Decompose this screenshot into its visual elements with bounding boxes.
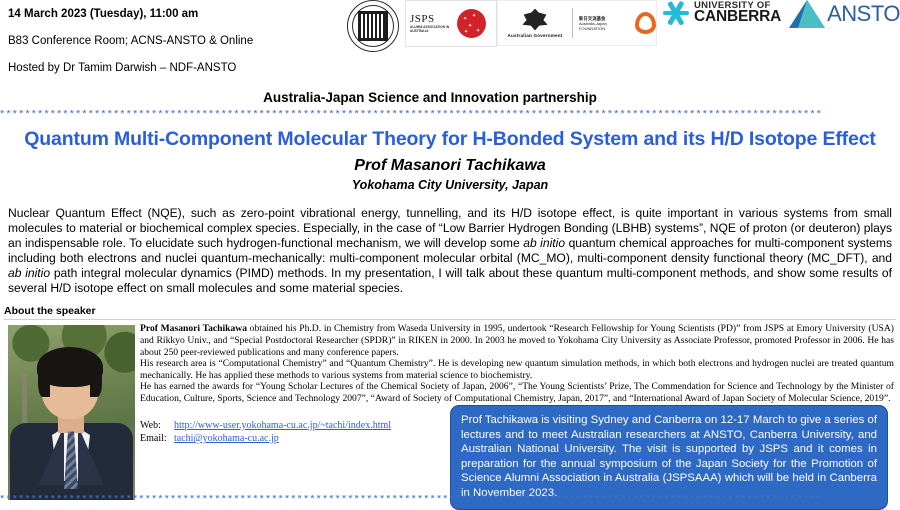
seminar-poster: 14 March 2023 (Tuesday), 11:00 am B83 Co… (0, 0, 900, 507)
speaker-bio-text: Prof Masanori Tachikawa obtained his Ph.… (140, 323, 894, 404)
logo-strip: JSPS ALUMNI ASSOCIATION IN AUSTRALIA ✦✦ … (347, 0, 900, 52)
ansto-triangle-icon (789, 0, 825, 28)
section-divider (4, 319, 896, 320)
ansto-logo: ANSTO (789, 0, 900, 28)
abstract-em-2: ab initio (8, 266, 50, 280)
bio-paragraph-2: His research area is “Computational Chem… (140, 358, 894, 381)
jsps-logo-title: JSPS (410, 14, 454, 25)
speaker-photo (8, 325, 135, 500)
speaker-affiliation: Yokohama City University, Japan (0, 178, 900, 192)
visit-callout-box: Prof Tachikawa is visiting Sydney and Ca… (450, 405, 888, 510)
speaker-website-link[interactable]: http://www-user.yokohama-cu.ac.jp/~tachi… (174, 420, 391, 431)
partnership-heading: Australia-Japan Science and Innovation p… (0, 90, 900, 105)
australian-government-logo: Australian Government 新日交流基金 Australia-J… (497, 0, 657, 46)
speaker-email-link[interactable]: tachi@yokohama-cu.ac.jp (174, 433, 279, 444)
canberra-snowflake-icon (663, 0, 689, 26)
speaker-name: Prof Masanori Tachikawa (0, 157, 900, 175)
web-label: Web: (140, 419, 174, 433)
about-the-speaker-label: About the speaker (4, 305, 900, 317)
ansto-wordmark: ANSTO (827, 1, 900, 27)
canberra-line2: CANBERRA (694, 10, 781, 24)
poster-header: 14 March 2023 (Tuesday), 11:00 am B83 Co… (0, 0, 900, 88)
event-host: Hosted by Dr Tamim Darwish – NDF-ANSTO (8, 61, 438, 75)
bio-paragraph-1: obtained his Ph.D. in Chemistry from Was… (140, 323, 894, 357)
page-title: Quantum Multi-Component Molecular Theory… (0, 128, 900, 151)
bio-paragraph-3: He has earned the awards for “Young Scho… (140, 381, 894, 404)
university-of-canberra-logo: UNIVERSITY OF CANBERRA (663, 0, 781, 26)
abstract-part-3: path integral molecular dynamics (PIMD) … (8, 266, 892, 295)
abstract-em-1: ab initio (523, 236, 565, 250)
australian-government-label: Australian Government (498, 33, 572, 38)
ausjapan-foundation-label: FOUNDATION (579, 26, 605, 31)
ausjapan-heart-icon (635, 12, 656, 34)
bio-speaker-name: Prof Masanori Tachikawa (140, 323, 247, 334)
jsps-logo-subtitle: ALUMNI ASSOCIATION IN AUSTRALIA (410, 25, 454, 33)
southern-cross-icon: ✦✦ ✦✦✦ (457, 9, 486, 38)
australian-academy-seal-icon (347, 0, 399, 52)
decorative-dot-row-top: ****************************************… (0, 110, 900, 119)
abstract-text: Nuclear Quantum Effect (NQE), such as ze… (8, 206, 892, 295)
email-label: Email: (140, 432, 174, 446)
commonwealth-crest-icon (520, 9, 550, 31)
decorative-dot-row-bottom: ****************************************… (0, 495, 900, 504)
jsps-alumni-logo: JSPS ALUMNI ASSOCIATION IN AUSTRALIA ✦✦ … (405, 0, 497, 47)
